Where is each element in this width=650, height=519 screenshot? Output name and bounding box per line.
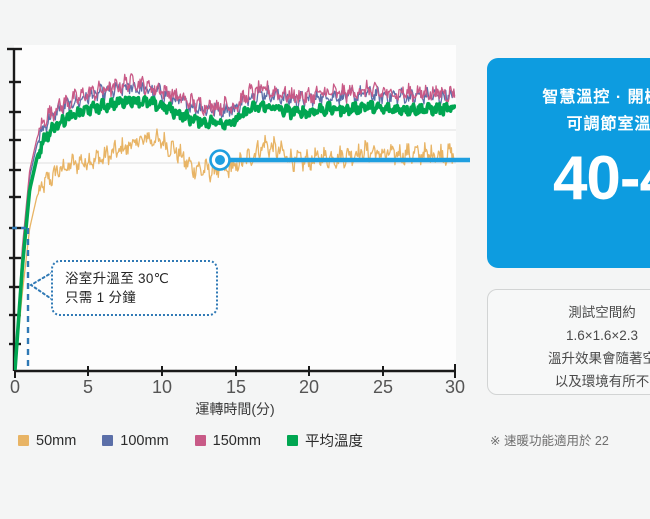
footnote-text: ※ 速暖功能適用於 22: [490, 430, 609, 449]
callout-bubble: 浴室升溫至 30℃ 只需 1 分鐘: [51, 260, 218, 316]
legend-item-100mm[interactable]: 100mm: [102, 433, 168, 449]
callout-line-1: 浴室升溫至 30℃: [65, 269, 216, 288]
x-tick-10: 10: [152, 377, 172, 397]
blue-dot-marker: [211, 151, 230, 170]
legend-swatch-average: [287, 435, 298, 446]
x-tick-0: 0: [10, 377, 20, 397]
x-axis-label: 運轉時間(分): [0, 399, 470, 419]
temperature-chart-panel: 0 5 10 15 20 25 30: [0, 0, 470, 470]
highlight-card-title-line1: 智慧溫控 · 開機: [487, 84, 650, 111]
test-conditions-note-box: 測試空間約 1.6×1.6×2.3 溫升效果會隨著空 以及環境有所不: [487, 289, 650, 395]
x-tick-5: 5: [83, 377, 93, 397]
legend-label-150mm: 150mm: [213, 433, 261, 449]
legend-label-100mm: 100mm: [120, 433, 168, 449]
legend-label-50mm: 50mm: [36, 433, 76, 449]
legend-label-average: 平均溫度: [305, 430, 363, 451]
note-line-3: 溫升效果會隨著空: [488, 347, 650, 370]
callout-line-2: 只需 1 分鐘: [65, 288, 216, 307]
legend-item-150mm[interactable]: 150mm: [195, 433, 261, 449]
legend-swatch-100mm: [102, 435, 113, 446]
x-tick-20: 20: [299, 377, 319, 397]
x-tick-15: 15: [226, 377, 246, 397]
x-tick-labels: 0 5 10 15 20 25 30: [10, 377, 465, 397]
legend-item-50mm[interactable]: 50mm: [18, 433, 76, 449]
chart-legend: 50mm 100mm 150mm 平均溫度: [18, 430, 363, 451]
legend-swatch-50mm: [18, 435, 29, 446]
note-line-2: 1.6×1.6×2.3: [488, 324, 650, 347]
highlight-card-value: 40-4: [487, 145, 650, 213]
x-tick-25: 25: [373, 377, 393, 397]
note-line-4: 以及環境有所不: [488, 370, 650, 393]
x-tick-30: 30: [445, 377, 465, 397]
highlight-card-title-line2: 可調節室溫: [487, 111, 650, 138]
legend-swatch-150mm: [195, 435, 206, 446]
legend-item-average[interactable]: 平均溫度: [287, 430, 363, 451]
highlight-card: 智慧溫控 · 開機 可調節室溫 40-4: [487, 58, 650, 268]
chart-plot-area: 0 5 10 15 20 25 30: [0, 0, 470, 400]
note-line-1: 測試空間約: [488, 301, 650, 324]
